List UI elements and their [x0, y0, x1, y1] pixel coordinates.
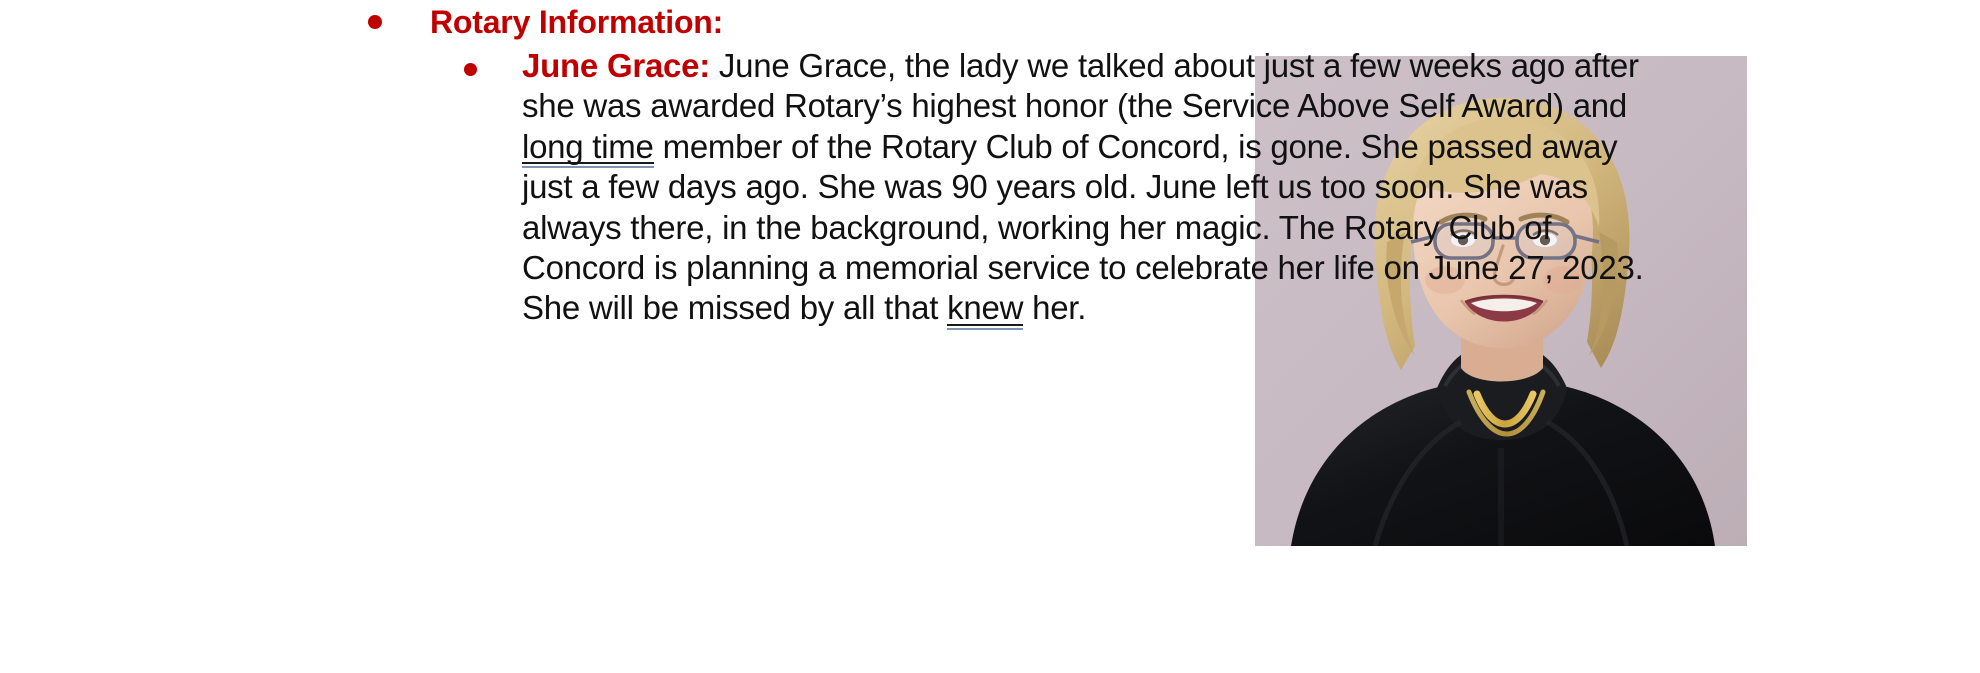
june-grace-paragraph: June Grace: June Grace, the lady we talk… — [522, 46, 1964, 329]
sub-bullet-dot-icon — [464, 63, 477, 76]
rotary-information-heading: Rotary Information: — [430, 2, 723, 43]
slide-outline: Rotary Information: June Grace: June Gra… — [0, 0, 1980, 673]
grammar-flagged-word[interactable]: knew — [947, 293, 1023, 325]
outline-level2-item[interactable]: June Grace: June Grace, the lady we talk… — [464, 46, 1964, 476]
june-grace-body-text: June Grace, the lady we talked about jus… — [522, 47, 1643, 326]
photo-text-wrap-spacer — [1664, 46, 1964, 476]
bullet-dot-icon — [368, 15, 382, 29]
body-text-run: her. — [1023, 289, 1086, 326]
june-grace-lead-label: June Grace: — [522, 47, 710, 84]
outline-level1-item[interactable]: Rotary Information: — [368, 2, 1568, 43]
grammar-flagged-word[interactable]: long time — [522, 132, 654, 164]
slide-canvas: Rotary Information: June Grace: June Gra… — [0, 0, 1980, 673]
